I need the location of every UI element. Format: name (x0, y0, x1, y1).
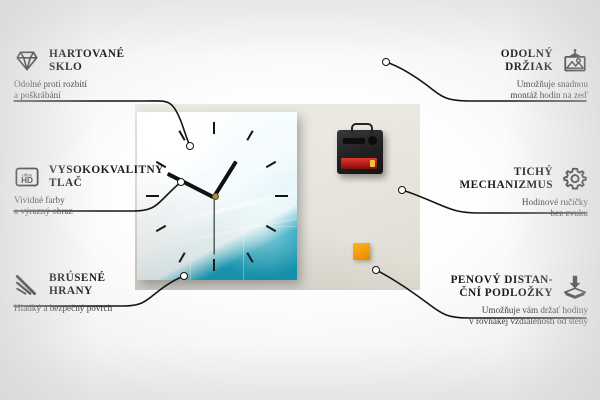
hotspot-dot-hanger (382, 58, 390, 66)
feature-description: Umožňuje snadnou montáž hodin na zeď (416, 75, 588, 102)
feature-heading: ODOLNÝ DRŽIAK (416, 48, 588, 75)
feature-description: Hodinové ručičky bez zvuku (416, 193, 588, 220)
feature-polished-edges: BRÚSENÉ HRANY Hladký a bezpečný povrch (14, 272, 186, 314)
feature-heading: HARTOVANÉ SKLO (14, 48, 186, 75)
ultra-hd-icon: ultra HD (14, 164, 40, 190)
diamond-icon (14, 48, 40, 74)
hotspot-dot-mechanism (398, 186, 406, 194)
feature-title: HARTOVANÉ SKLO (49, 48, 124, 75)
feature-foam-spacers: PENOVÝ DISTAN- ČNÍ PODLOŽKY Umožňuje vám… (402, 274, 588, 328)
feature-high-quality-print: ultra HD VYSOKOKVALITNÝ TLAČ Vividné far… (14, 164, 186, 218)
feature-silent-mechanism: TICHÝ MECHANIZMUS Hodinové ručičky bez z… (416, 166, 588, 220)
connector-tempered-glass (14, 101, 190, 146)
feature-title: TICHÝ MECHANIZMUS (460, 166, 553, 193)
hotspot-dot-tempered-glass (186, 142, 194, 150)
gear-icon (562, 166, 588, 192)
feature-title: ODOLNÝ DRŽIAK (501, 48, 553, 75)
feature-title: VYSOKOKVALITNÝ TLAČ (49, 164, 164, 191)
feature-description: Hladký a bezpečný povrch (14, 299, 186, 315)
feature-heading: TICHÝ MECHANIZMUS (416, 166, 588, 193)
feature-title: PENOVÝ DISTAN- ČNÍ PODLOŽKY (451, 274, 553, 301)
picture-frame-hanger-icon (562, 48, 588, 74)
feature-description: Umožňuje vám držať hodiny v rovnakej vzd… (402, 301, 588, 328)
infographic-canvas: HARTOVANÉ SKLO Odolné proti rozbití a po… (0, 0, 600, 400)
diagonal-lines-icon (14, 272, 40, 298)
feature-description: Vividné farby a výrazný obraz (14, 191, 186, 218)
feature-heading: BRÚSENÉ HRANY (14, 272, 186, 299)
feature-tempered-glass: HARTOVANÉ SKLO Odolné proti rozbití a po… (14, 48, 186, 102)
feature-heading: ultra HD VYSOKOKVALITNÝ TLAČ (14, 164, 186, 191)
svg-text:HD: HD (21, 176, 33, 185)
hotspot-dot-foam (372, 266, 380, 274)
press-layers-icon (562, 274, 588, 300)
feature-description: Odolné proti rozbití a poškrábání (14, 75, 186, 102)
feature-title: BRÚSENÉ HRANY (49, 272, 106, 299)
feature-heading: PENOVÝ DISTAN- ČNÍ PODLOŽKY (402, 274, 588, 301)
feature-durable-hanger: ODOLNÝ DRŽIAK Umožňuje snadnou montáž ho… (416, 48, 588, 102)
